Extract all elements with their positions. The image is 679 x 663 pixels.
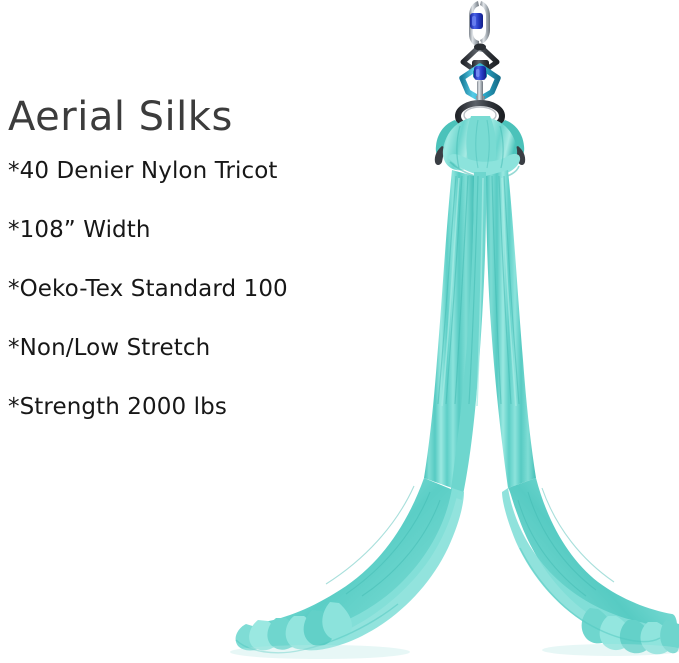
product-text-block: Aerial Silks *40 Denier Nylon Tricot *10… (8, 96, 358, 419)
feature-line-2: *108” Width (8, 219, 358, 242)
rescue-ring-icon (458, 103, 502, 129)
hanging-silk-fabric (424, 170, 536, 500)
feature-line-4: *Non/Low Stretch (8, 337, 358, 360)
feature-line-3: *Oeko-Tex Standard 100 (8, 278, 358, 301)
blue-connector-icon (474, 66, 486, 106)
silk-knot (443, 116, 520, 178)
locking-carabiner-icon (469, 1, 490, 52)
page-title: Aerial Silks (8, 96, 358, 138)
triangular-link-icon (463, 44, 497, 75)
pooled-fabric-right (502, 478, 679, 654)
feature-line-1: *40 Denier Nylon Tricot (8, 160, 358, 183)
pooled-fabric-left (236, 478, 464, 653)
silk-knot-wings (435, 120, 525, 165)
feature-line-5: *Strength 2000 lbs (8, 396, 358, 419)
aerial-swivel-icon (462, 60, 498, 103)
product-image-canvas: Aerial Silks *40 Denier Nylon Tricot *10… (0, 0, 679, 663)
